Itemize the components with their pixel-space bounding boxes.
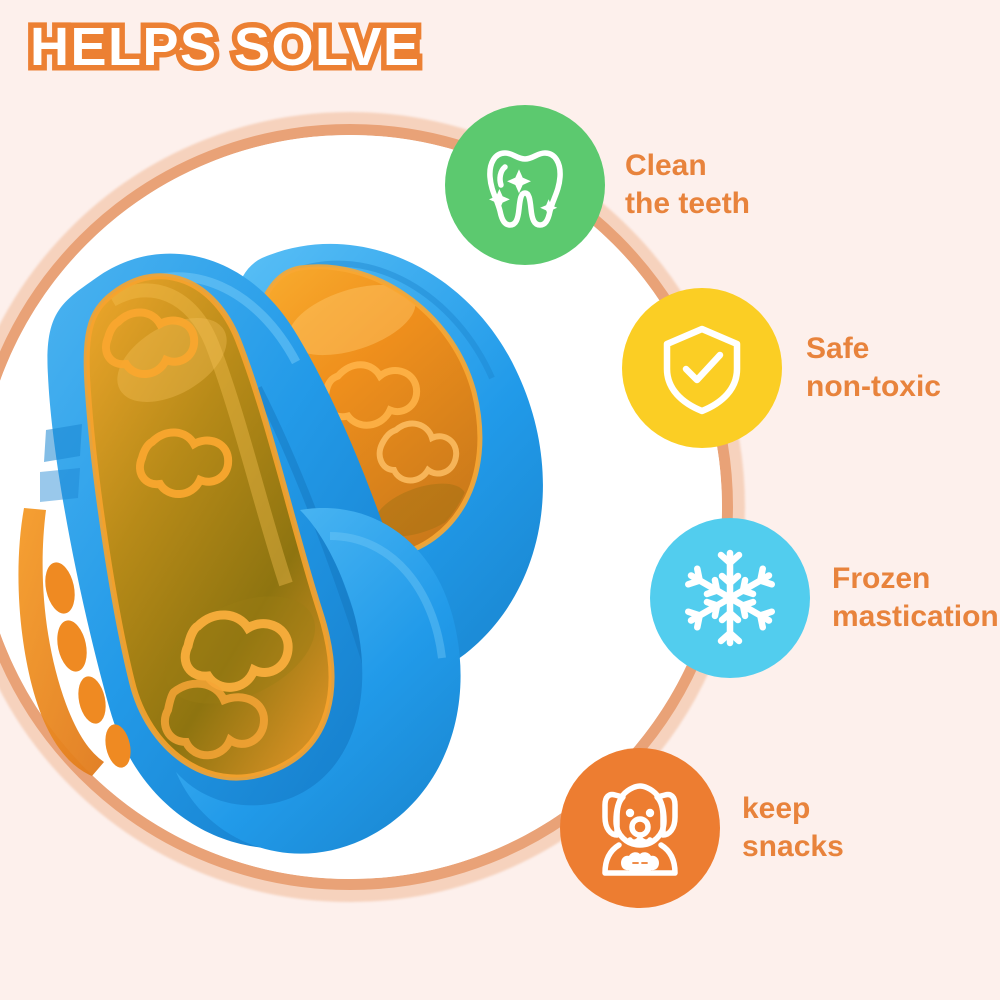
dog-eyes (626, 809, 654, 817)
feature-item-clean-teeth[interactable]: Clean the teeth (445, 105, 750, 265)
tooth-icon (473, 133, 577, 237)
shield-check-icon (653, 319, 751, 417)
feature-label-line2: the teeth (625, 185, 750, 223)
feature-label-line1: Frozen (832, 562, 930, 595)
product-image (0, 180, 620, 880)
feature-label-line2: snacks (742, 828, 844, 866)
feature-label: Safe non-toxic (806, 330, 941, 407)
feature-badge-yellow (622, 288, 782, 448)
feature-label: keep snacks (742, 790, 844, 867)
feature-badge-green (445, 105, 605, 265)
feature-item-keep-snacks[interactable]: keep snacks (560, 748, 844, 908)
feature-badge-orange (560, 748, 720, 908)
feature-item-frozen-mastication[interactable]: Frozen mastication (650, 518, 999, 678)
dog-with-bone-icon (585, 773, 695, 883)
feature-item-safe-nontoxic[interactable]: Safe non-toxic (622, 288, 941, 448)
snowflake-icon (677, 545, 783, 651)
feature-label: Frozen mastication (832, 560, 999, 637)
feature-label-line2: mastication (832, 598, 999, 636)
feature-label-line1: keep (742, 792, 810, 825)
feature-label-line1: Safe (806, 332, 869, 365)
feature-label: Clean the teeth (625, 147, 750, 224)
feature-label-line2: non-toxic (806, 368, 941, 406)
page-title: HELPS SOLVE (30, 16, 421, 78)
feature-badge-blue (650, 518, 810, 678)
infographic-canvas: Clean the teeth Safe non-toxic (0, 0, 1000, 1000)
feature-label-line1: Clean (625, 149, 707, 182)
